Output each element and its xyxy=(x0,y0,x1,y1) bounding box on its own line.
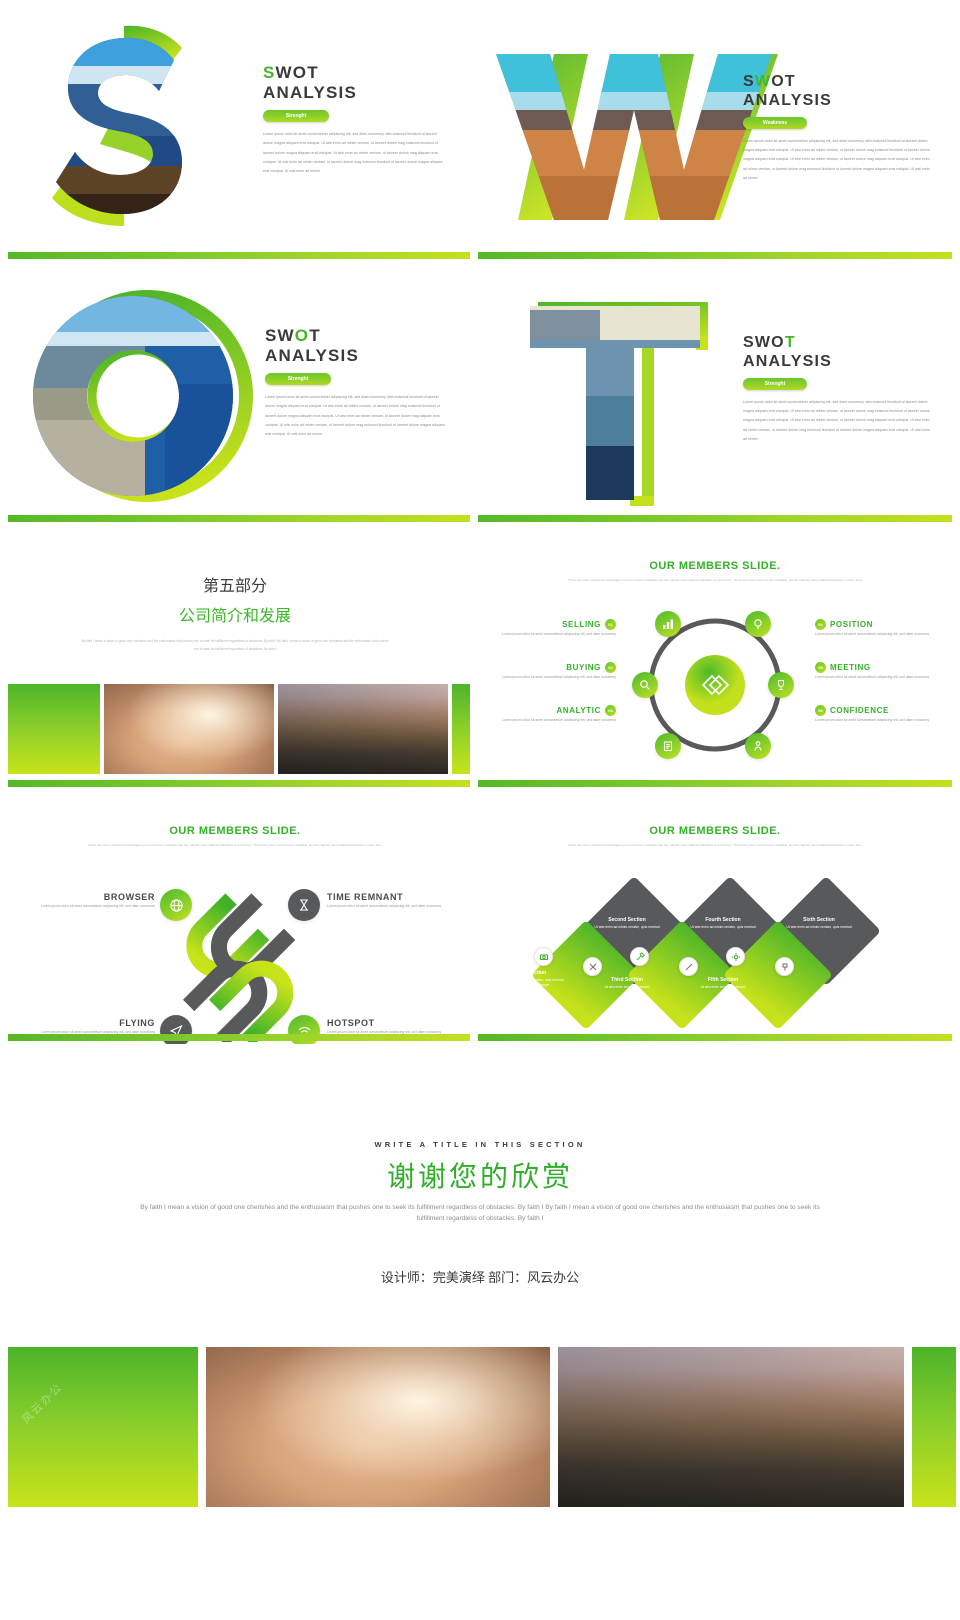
diamond-label-third: Third Section xyxy=(592,977,662,983)
chain-item-flying[interactable]: FLYING Lorem ipsum dolor sit amet consec… xyxy=(20,1018,155,1035)
member-item-analytic[interactable]: ANALYTIC 03 Lorem ipsum dolor sit amet c… xyxy=(484,705,616,723)
thanks-kicker: WRITE A TITLE IN THIS SECTION xyxy=(0,1140,960,1149)
divider-bar-4-left xyxy=(8,1034,470,1041)
diamond-connector-2[interactable] xyxy=(679,957,698,976)
tools-icon xyxy=(588,962,598,972)
slide-swot-o[interactable]: SWOT ANALYSIS Strenght Lorem ipsum dolor… xyxy=(0,262,470,514)
section-photo-hands[interactable] xyxy=(104,684,274,774)
swot-t-title: SWOT ANALYSIS xyxy=(743,334,933,372)
member-desc-selling: Lorem ipsum dolor sit amet consectetuer … xyxy=(484,632,616,637)
members-diamond-subtitle: There are many variations of passages of… xyxy=(538,843,893,848)
letter-t-graphic xyxy=(530,300,730,510)
diamond-label-second: Second Section xyxy=(588,917,666,923)
chain-label-hotspot: HOTSPOT xyxy=(327,1018,462,1028)
members-circle-left-column: SELLING 01 Lorem ipsum dolor sit amet co… xyxy=(484,619,616,723)
section-accent-block-left xyxy=(8,684,100,774)
members-chain-title: OUR MEMBERS SLIDE. xyxy=(0,825,470,837)
hourglass-icon xyxy=(297,898,311,912)
member-num-buying: 02 xyxy=(605,662,616,673)
thanks-headline: 谢谢您的欣赏 xyxy=(0,1155,960,1195)
pin-icon xyxy=(752,618,764,630)
divider-bar-1-left xyxy=(8,252,470,259)
swot-t-badge[interactable]: Strenght xyxy=(743,378,807,390)
slide-members-circle[interactable]: OUR MEMBERS SLIDE. There are many variat… xyxy=(470,527,960,779)
member-num-position: 04 xyxy=(815,619,826,630)
slide-section-intro[interactable]: 第五部分 公司简介和发展 By faith I mean a vision of… xyxy=(0,527,470,779)
slide-thank-you[interactable]: WRITE A TITLE IN THIS SECTION 谢谢您的欣赏 By … xyxy=(0,1046,960,1320)
chain-item-hotspot[interactable]: HOTSPOT Lorem ipsum dolor sit amet conse… xyxy=(327,1018,462,1035)
diamond-chain-graphic xyxy=(525,874,910,1034)
diamond-label-sixth: Sixth Section xyxy=(780,917,858,923)
section-subtitle: 公司简介和发展 xyxy=(0,602,470,626)
orbit-node-buying[interactable] xyxy=(632,672,658,698)
gears-icon xyxy=(731,952,741,962)
footer-photo-dunes[interactable] xyxy=(558,1347,904,1507)
swot-o-textblock: SWOT ANALYSIS Strenght Lorem ipsum dolor… xyxy=(265,326,447,440)
member-label-confidence: CONFIDENCE xyxy=(830,706,889,715)
footer-accent-block-right xyxy=(912,1347,956,1507)
footer-watermark: 风云办公 xyxy=(18,1379,66,1427)
swot-o-body: Lorem ipsum dolor sit amet consectetuer … xyxy=(265,393,447,440)
orbit-node-position[interactable] xyxy=(745,611,771,637)
diamond-text-second: Second Section Ut wisi enim ad minim ven… xyxy=(588,917,666,930)
swot-w-badge[interactable]: Weakness xyxy=(743,117,807,129)
thanks-body: By faith I mean a vision of good one che… xyxy=(135,1203,825,1225)
diamond-desc-third: Ut wisi enim ad minim veniam xyxy=(592,985,662,990)
member-label-analytic: ANALYTIC xyxy=(556,706,601,715)
member-item-selling[interactable]: SELLING 01 Lorem ipsum dolor sit amet co… xyxy=(484,619,616,637)
diamond-text-fifth: Fifth Section Ut wisi enim ad minim veni… xyxy=(688,977,758,990)
member-num-meeting: 05 xyxy=(815,662,826,673)
projector-icon xyxy=(539,952,549,962)
diamond-label-fourth: Fourth Section xyxy=(684,917,762,923)
paint-icon xyxy=(780,962,790,972)
thanks-credit: 设计师：完美演绎 部门：风云办公 xyxy=(0,1267,960,1286)
members-circle-right-column: 04 POSITION Lorem ipsum dolor sit amet c… xyxy=(815,619,947,723)
footer-photo-hands[interactable] xyxy=(206,1347,550,1507)
slide-swot-t[interactable]: SWOT ANALYSIS Strenght Lorem ipsum dolor… xyxy=(470,262,960,514)
swot-s-title: SWOT ANALYSIS xyxy=(263,63,445,103)
slide-swot-s[interactable]: SWOT ANALYSIS Strenght Lorem ipsum dolor… xyxy=(0,0,470,252)
chain-node-time-remnant[interactable] xyxy=(288,889,320,921)
member-desc-meeting: Lorem ipsum dolor sit amet consectetuer … xyxy=(815,675,947,680)
divider-bar-4-right xyxy=(478,1034,952,1041)
members-circle-title: OUR MEMBERS SLIDE. xyxy=(470,560,960,572)
divider-bar-2-right xyxy=(478,515,952,522)
slide-footer-gallery[interactable]: 风云办公 xyxy=(0,1320,960,1620)
member-desc-confidence: Lorem ipsum dolor sit amet consectetuer … xyxy=(815,718,947,723)
diamond-label-first: First Section xyxy=(496,970,566,976)
template-preview-page: SWOT ANALYSIS Strenght Lorem ipsum dolor… xyxy=(0,0,960,1620)
member-num-selling: 01 xyxy=(605,619,616,630)
diamond-icon-third[interactable] xyxy=(630,947,649,966)
diamond-icon-first[interactable] xyxy=(534,947,553,966)
divider-bar-1-right xyxy=(478,252,952,259)
swot-o-badge[interactable]: Strenght xyxy=(265,373,331,385)
chain-label-browser: BROWSER xyxy=(20,892,155,902)
letter-o-graphic xyxy=(25,288,255,503)
letter-s-graphic xyxy=(22,18,237,233)
diamond-text-third: Third Section Ut wisi enim ad minim veni… xyxy=(592,977,662,990)
orbit-node-selling[interactable] xyxy=(655,611,681,637)
members-diamond-title: OUR MEMBERS SLIDE. xyxy=(470,825,960,837)
member-desc-buying: Lorem ipsum dolor sit amet consectetuer … xyxy=(484,675,616,680)
member-label-selling: SELLING xyxy=(562,620,601,629)
diamond-desc-second: Ut wisi enim ad minim veniam, quis nostr… xyxy=(588,925,666,930)
member-item-position[interactable]: 04 POSITION Lorem ipsum dolor sit amet c… xyxy=(815,619,947,637)
orbit-node-confidence[interactable] xyxy=(745,733,771,759)
members-circle-subtitle: There are many variations of passages of… xyxy=(538,578,893,583)
bar-chart-icon xyxy=(662,618,674,630)
section-accent-block-right xyxy=(452,684,470,774)
member-desc-position: Lorem ipsum dolor sit amet consectetuer … xyxy=(815,632,947,637)
divider-bar-2-left xyxy=(8,515,470,522)
diamond-connector-3[interactable] xyxy=(775,957,794,976)
diamond-label-fifth: Fifth Section xyxy=(688,977,758,983)
diamond-text-first: First Section Ut wisi enim ad minim veni… xyxy=(496,970,566,988)
members-chain-subtitle: There are many variations of passages of… xyxy=(65,843,405,848)
slide-swot-w[interactable]: SWOT ANALYSIS Weakness Lorem ipsum dolor… xyxy=(470,0,960,252)
member-label-position: POSITION xyxy=(830,620,873,629)
chain-node-browser[interactable] xyxy=(160,889,192,921)
footer-accent-block-left: 风云办公 xyxy=(8,1347,198,1507)
chain-desc-time-remnant: Lorem ipsum dolor sit amet consectetuer … xyxy=(327,904,462,909)
diamond-text-sixth: Sixth Section Ut wisi enim ad minim veni… xyxy=(780,917,858,930)
orbit-node-meeting[interactable] xyxy=(768,672,794,698)
member-label-meeting: MEETING xyxy=(830,663,871,672)
diamond-desc-first: Ut wisi enim ad minim veniam, quis nostr… xyxy=(496,978,566,988)
member-item-confidence[interactable]: 06 CONFIDENCE Lorem ipsum dolor sit amet… xyxy=(815,705,947,723)
globe-icon xyxy=(169,898,184,913)
member-item-meeting[interactable]: 05 MEETING Lorem ipsum dolor sit amet co… xyxy=(815,662,947,680)
swot-t-body: Lorem ipsum dolor sit amet consectetuer … xyxy=(743,398,933,445)
swot-w-textblock: SWOT ANALYSIS Weakness Lorem ipsum dolor… xyxy=(743,73,933,183)
diamond-desc-fourth: Ut wisi enim ad minim veniam, quis nostr… xyxy=(684,925,762,930)
chain-desc-browser: Lorem ipsum dolor sit amet consectetuer … xyxy=(20,904,155,909)
diamond-connector-1[interactable] xyxy=(583,957,602,976)
slide-members-chain[interactable]: OUR MEMBERS SLIDE. There are many variat… xyxy=(0,792,470,1044)
slide-members-diamond[interactable]: OUR MEMBERS SLIDE. There are many variat… xyxy=(470,792,960,1044)
divider-bar-3-right xyxy=(478,780,952,787)
diamond-desc-fifth: Ut wisi enim ad minim veniam xyxy=(688,985,758,990)
chain-label-time-remnant: TIME REMNANT xyxy=(327,892,462,902)
swot-s-badge[interactable]: Strenght xyxy=(263,110,329,122)
member-desc-analytic: Lorem ipsum dolor sit amet consectetuer … xyxy=(484,718,616,723)
member-label-buying: BUYING xyxy=(566,663,601,672)
swot-s-textblock: SWOT ANALYSIS Strenght Lorem ipsum dolor… xyxy=(263,63,445,177)
chain-item-time-remnant[interactable]: TIME REMNANT Lorem ipsum dolor sit amet … xyxy=(327,892,462,909)
chain-item-browser[interactable]: BROWSER Lorem ipsum dolor sit amet conse… xyxy=(20,892,155,909)
search-icon xyxy=(639,679,651,691)
member-num-analytic: 03 xyxy=(605,705,616,716)
swot-w-body: Lorem ipsum dolor sit amet consectetuer … xyxy=(743,137,933,184)
swot-t-textblock: SWOT ANALYSIS Strenght Lorem ipsum dolor… xyxy=(743,334,933,444)
swot-o-title: SWOT ANALYSIS xyxy=(265,326,447,366)
section-desc: By faith I mean a vision of good one che… xyxy=(80,638,390,653)
member-item-buying[interactable]: BUYING 02 Lorem ipsum dolor sit amet con… xyxy=(484,662,616,680)
swot-w-title: SWOT ANALYSIS xyxy=(743,73,933,111)
section-photo-dunes[interactable] xyxy=(278,684,448,774)
orbit-node-analytic[interactable] xyxy=(655,733,681,759)
member-num-confidence: 06 xyxy=(815,705,826,716)
hammer-icon xyxy=(635,952,645,962)
chain-label-flying: FLYING xyxy=(20,1018,155,1028)
trophy-icon xyxy=(775,679,787,691)
letter-w-graphic xyxy=(492,48,782,228)
screwdriver-icon xyxy=(684,962,694,972)
section-title: 第五部分 xyxy=(0,572,470,596)
clipboard-icon xyxy=(662,740,674,752)
diamond-text-fourth: Fourth Section Ut wisi enim ad minim ven… xyxy=(684,917,762,930)
diamond-desc-sixth: Ut wisi enim ad minim veniam, quis nostr… xyxy=(780,925,858,930)
divider-bar-3-left xyxy=(8,780,470,787)
person-icon xyxy=(752,740,764,752)
diamond-icon-fifth[interactable] xyxy=(726,947,745,966)
swot-s-body: Lorem ipsum dolor sit amet consectetuer … xyxy=(263,130,445,177)
